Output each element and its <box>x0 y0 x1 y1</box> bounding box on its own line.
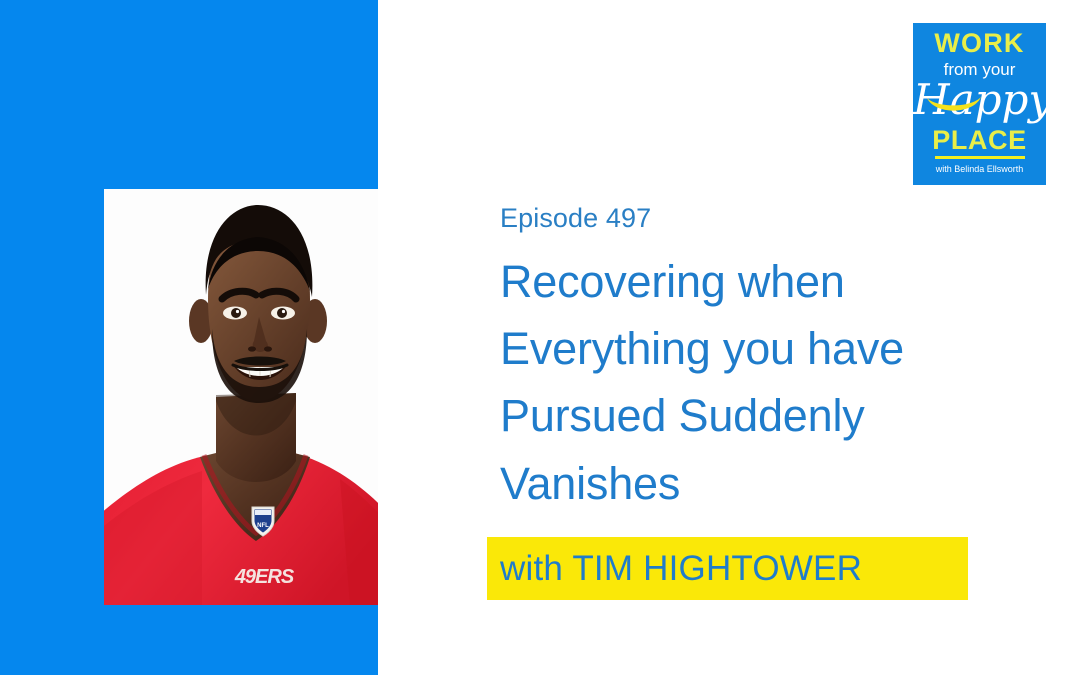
logo-byline: with Belinda Ellsworth <box>913 165 1046 174</box>
guest-name-text: with TIM HIGHTOWER <box>500 549 862 589</box>
logo-line-happy: Happy <box>913 79 1046 121</box>
blue-block-bottom <box>0 605 378 675</box>
svg-text:49ERS: 49ERS <box>234 566 295 588</box>
title-line-4: Vanishes <box>500 450 1000 517</box>
svg-text:NFL: NFL <box>257 523 269 529</box>
blue-block-top <box>0 0 378 189</box>
episode-number: Episode 497 <box>500 202 1000 234</box>
podcast-logo: WORK from your Happy PLACE with Belinda … <box>913 23 1046 185</box>
title-line-3: Pursued Suddenly <box>500 382 1000 449</box>
title-line-2: Everything you have <box>500 315 1000 382</box>
guest-name-banner: with TIM HIGHTOWER <box>487 537 968 600</box>
title-line-1: Recovering when <box>500 248 1000 315</box>
logo-line-work: WORK <box>913 30 1046 57</box>
guest-photo: NFL 49ERS <box>104 189 378 605</box>
logo-line-place: PLACE <box>913 127 1046 154</box>
episode-title: Recovering when Everything you have Purs… <box>500 248 1000 516</box>
blue-strip-left <box>0 189 104 605</box>
episode-text-block: Episode 497 Recovering when Everything y… <box>500 202 1000 517</box>
podcast-episode-graphic: NFL 49ERS Episode 497 Recovering when Ev… <box>0 0 1080 675</box>
jersey-team-wordmark: 49ERS <box>234 566 295 588</box>
logo-divider <box>935 156 1025 159</box>
